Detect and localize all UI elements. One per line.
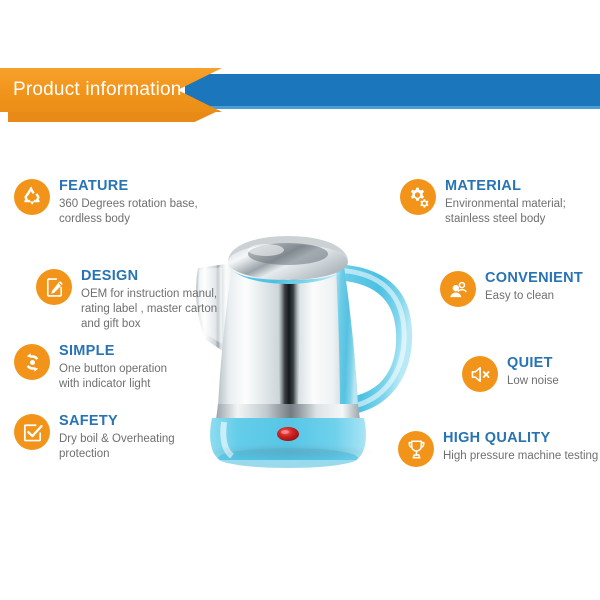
feature-item-design: DESIGN OEM for instruction manul, rating…	[36, 268, 217, 332]
feature-title-convenient: CONVENIENT	[485, 270, 583, 287]
feature-title-high-quality: HIGH QUALITY	[443, 430, 598, 447]
feature-desc-design: OEM for instruction manul, rating label …	[81, 287, 217, 332]
feature-text-material: MATERIAL Environmental material; stainle…	[436, 178, 566, 227]
product-information-infographic: Product information	[0, 0, 600, 600]
feature-item-feature: FEATURE 360 Degrees rotation base, cordl…	[14, 178, 198, 227]
refresh-arrows-icon	[14, 344, 50, 380]
feature-title-material: MATERIAL	[445, 178, 566, 195]
checkbox-check-icon	[14, 414, 50, 450]
feature-item-convenient: CONVENIENT Easy to clean	[440, 270, 583, 307]
feature-desc-safety: Dry boil & Overheating protection	[59, 432, 175, 462]
kettle-collar	[216, 404, 360, 420]
feature-desc-material: Environmental material; stainless steel …	[445, 197, 566, 227]
feature-desc-quiet: Low noise	[507, 374, 559, 389]
trophy-icon	[398, 431, 434, 467]
feature-desc-convenient: Easy to clean	[485, 289, 583, 304]
feature-item-safety: SAFETY Dry boil & Overheating protection	[14, 413, 175, 462]
body-reflection-stripe	[278, 268, 300, 408]
feature-item-quiet: QUIET Low noise	[462, 355, 559, 392]
feature-text-design: DESIGN OEM for instruction manul, rating…	[72, 268, 217, 332]
feature-desc-feature: 360 Degrees rotation base, cordless body	[59, 197, 198, 227]
kettle-illustration	[178, 222, 426, 472]
product-drop-shadow	[204, 444, 374, 460]
feature-item-material: MATERIAL Environmental material; stainle…	[400, 178, 566, 227]
pencil-edit-icon	[36, 269, 72, 305]
feature-text-quiet: QUIET Low noise	[498, 355, 559, 389]
feature-title-quiet: QUIET	[507, 355, 559, 372]
page-title: Product information	[0, 79, 182, 101]
feature-title-design: DESIGN	[81, 268, 217, 285]
feature-text-simple: SIMPLE One button operation with indicat…	[50, 343, 167, 392]
indicator-glint	[281, 430, 289, 434]
gears-icon	[400, 179, 436, 215]
feature-title-simple: SIMPLE	[59, 343, 167, 360]
feature-text-high-quality: HIGH QUALITY High pressure machine testi…	[434, 430, 598, 464]
header-banner: Product information	[0, 68, 600, 124]
feature-text-safety: SAFETY Dry boil & Overheating protection	[50, 413, 175, 462]
feature-desc-simple: One button operation with indicator ligh…	[59, 362, 167, 392]
banner-blue-bar	[185, 74, 600, 106]
feature-item-simple: SIMPLE One button operation with indicat…	[14, 343, 167, 392]
users-icon	[440, 271, 476, 307]
feature-title-feature: FEATURE	[59, 178, 198, 195]
feature-desc-high-quality: High pressure machine testing	[443, 449, 598, 464]
feature-item-high-quality: HIGH QUALITY High pressure machine testi…	[398, 430, 598, 467]
product-image-kettle	[178, 222, 426, 472]
recycle-icon	[14, 179, 50, 215]
speaker-mute-icon	[462, 356, 498, 392]
feature-text-convenient: CONVENIENT Easy to clean	[476, 270, 583, 304]
lid-highlight	[248, 244, 284, 256]
feature-title-safety: SAFETY	[59, 413, 175, 430]
feature-text-feature: FEATURE 360 Degrees rotation base, cordl…	[50, 178, 198, 227]
indicator-light	[277, 427, 299, 441]
